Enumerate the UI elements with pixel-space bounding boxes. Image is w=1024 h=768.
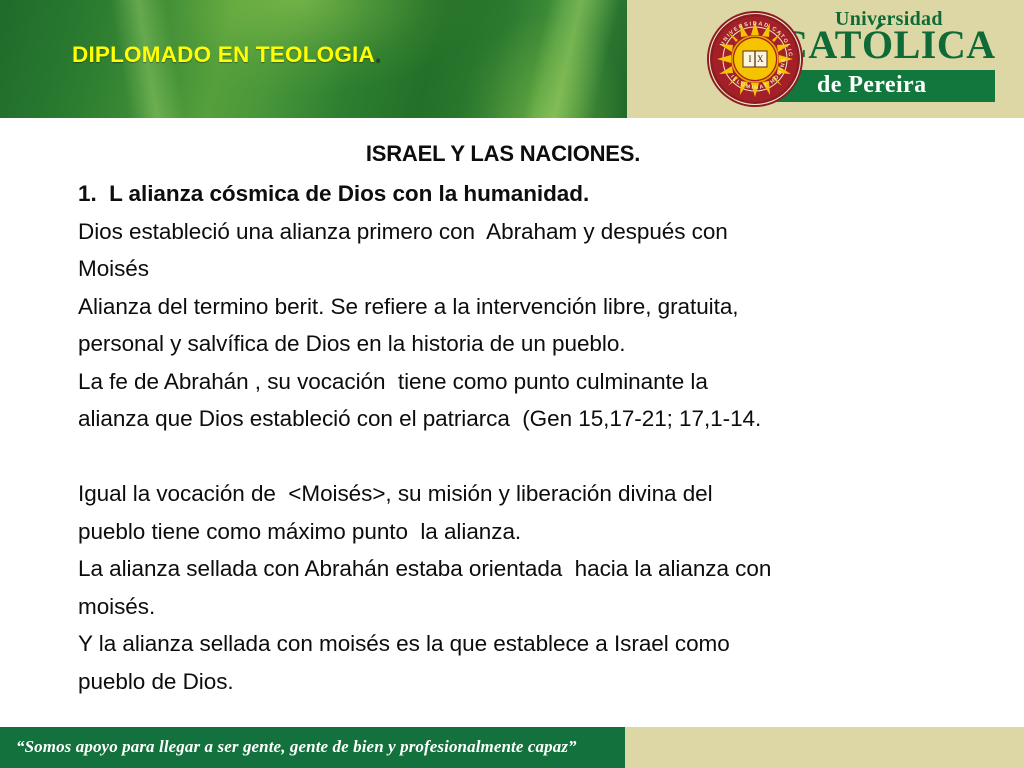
open-book-glyph: I X <box>743 51 767 67</box>
course-title-suffix: . <box>375 42 381 67</box>
body-line: 1. L alianza cósmica de Dios con la huma… <box>78 175 978 213</box>
body-line: personal y salvífica de Dios en la histo… <box>78 325 978 363</box>
footer-slogan: “Somos apoyo para llegar a ser gente, ge… <box>16 737 577 757</box>
slide-header: DIPLOMADO EN TEOLOGIA. <box>0 0 1024 118</box>
university-logo: I X UNIVERSIDAD CATOLICA DE PEREIRA ILLU… <box>627 0 1024 118</box>
footer-tan-panel <box>625 727 1024 768</box>
university-seal-icon: I X UNIVERSIDAD CATOLICA DE PEREIRA ILLU… <box>705 9 805 109</box>
body-line: alianza que Dios estableció con el patri… <box>78 400 978 438</box>
body-line: pueblo tiene como máximo punto la alianz… <box>78 513 978 551</box>
slide-footer: “Somos apoyo para llegar a ser gente, ge… <box>0 727 1024 768</box>
body-line: La fe de Abrahán , su vocación tiene com… <box>78 363 978 401</box>
body-line: Moisés <box>78 250 978 288</box>
svg-text:I: I <box>749 54 752 64</box>
body-line: Alianza del termino berit. Se refiere a … <box>78 288 978 326</box>
course-title-text: DIPLOMADO EN TEOLOGIA <box>72 42 375 67</box>
body-line: Y la alianza sellada con moisés es la qu… <box>78 625 978 663</box>
slide: DIPLOMADO EN TEOLOGIA. <box>0 0 1024 768</box>
body-line: Dios estableció una alianza primero con … <box>78 213 978 251</box>
slide-body: ISRAEL Y LAS NACIONES. 1. L alianza cósm… <box>0 118 1024 712</box>
body-line-spacer <box>78 438 978 476</box>
course-title: DIPLOMADO EN TEOLOGIA. <box>72 42 381 68</box>
svg-text:X: X <box>757 54 764 64</box>
body-line: La alianza sellada con Abrahán estaba or… <box>78 550 978 588</box>
page-title: ISRAEL Y LAS NACIONES. <box>0 141 1024 167</box>
brand-de-pereira-label: de Pereira <box>817 72 927 99</box>
body-line: moisés. <box>78 588 978 626</box>
body-line: Igual la vocación de <Moisés>, su misión… <box>78 475 978 513</box>
brand-catolica-label: CATÓLICA <box>779 25 996 65</box>
body-text-block: 1. L alianza cósmica de Dios con la huma… <box>78 175 978 700</box>
body-line: pueblo de Dios. <box>78 663 978 701</box>
